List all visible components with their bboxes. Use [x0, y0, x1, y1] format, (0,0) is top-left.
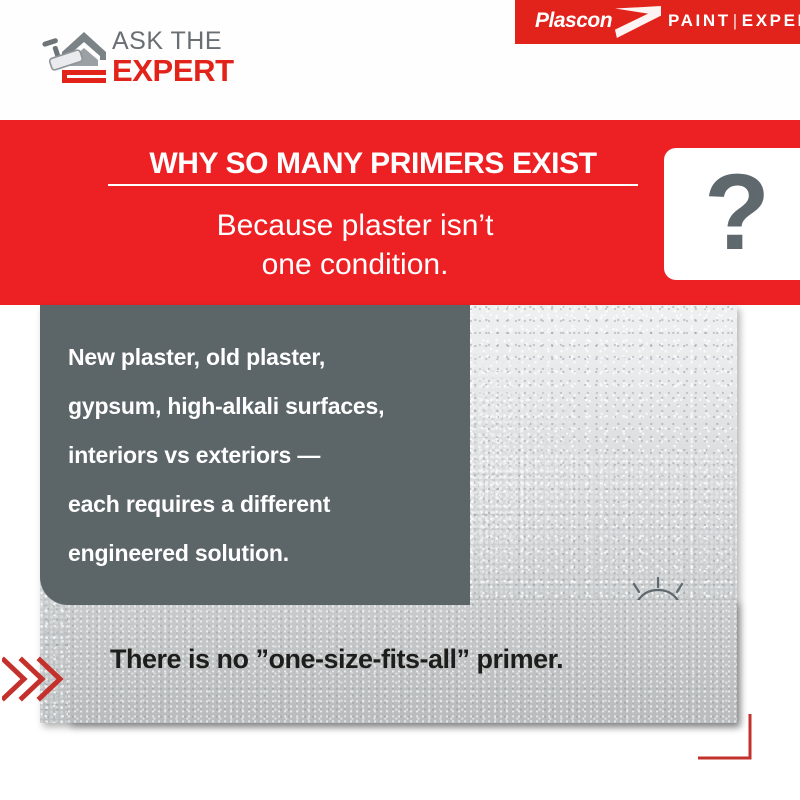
- question-mark-card: ?: [664, 148, 800, 280]
- logo-line-ask-the: ASK THE: [112, 28, 232, 54]
- infographic-canvas: ASK THE EXPERT Plascon PAINT|EXPERT WHY …: [0, 0, 800, 800]
- plascon-wordmark: Plascon: [535, 9, 612, 33]
- header-bar: ASK THE EXPERT Plascon PAINT|EXPERT: [0, 0, 800, 120]
- tagline-divider: |: [731, 11, 742, 30]
- copy-line-4: each requires a different: [68, 480, 458, 529]
- logo-line-expert: EXPERT: [112, 55, 232, 86]
- ask-the-expert-logo: ASK THE EXPERT: [40, 24, 230, 90]
- title-underline: [108, 184, 638, 186]
- copy-line-3: interiors vs exteriors —: [68, 431, 458, 480]
- question-mark-icon: ?: [664, 142, 800, 282]
- page-subtitle: Because plaster isn’t one condition.: [60, 206, 650, 284]
- tagline-expert: EXPERT: [742, 11, 800, 30]
- page-title: WHY SO MANY PRIMERS EXIST: [108, 147, 638, 181]
- body-copy-panel: New plaster, old plaster, gypsum, high-a…: [40, 305, 470, 605]
- plascon-brand-bar: Plascon PAINT|EXPERT: [515, 0, 800, 44]
- plascon-swoosh-icon: [615, 6, 661, 38]
- body-copy: New plaster, old plaster, gypsum, high-a…: [68, 333, 458, 578]
- corner-bracket-icon: [690, 710, 760, 790]
- ask-the-expert-wordmark: ASK THE EXPERT: [112, 28, 232, 88]
- copy-line-1: New plaster, old plaster,: [68, 333, 458, 382]
- statement-banner: There is no ”one-size-fits-all” primer.: [68, 600, 737, 723]
- subtitle-line-2: one condition.: [60, 245, 650, 284]
- tagline-paint: PAINT: [668, 11, 731, 30]
- paint-roller-house-icon: [40, 26, 112, 88]
- triple-chevron-right-icon: [2, 655, 64, 703]
- statement-text: There is no ”one-size-fits-all” primer.: [110, 644, 710, 675]
- copy-line-2: gypsum, high-alkali surfaces,: [68, 382, 458, 431]
- subtitle-line-1: Because plaster isn’t: [60, 206, 650, 245]
- copy-line-5: engineered solution.: [68, 529, 458, 578]
- paint-expert-tagline: PAINT|EXPERT: [668, 11, 800, 31]
